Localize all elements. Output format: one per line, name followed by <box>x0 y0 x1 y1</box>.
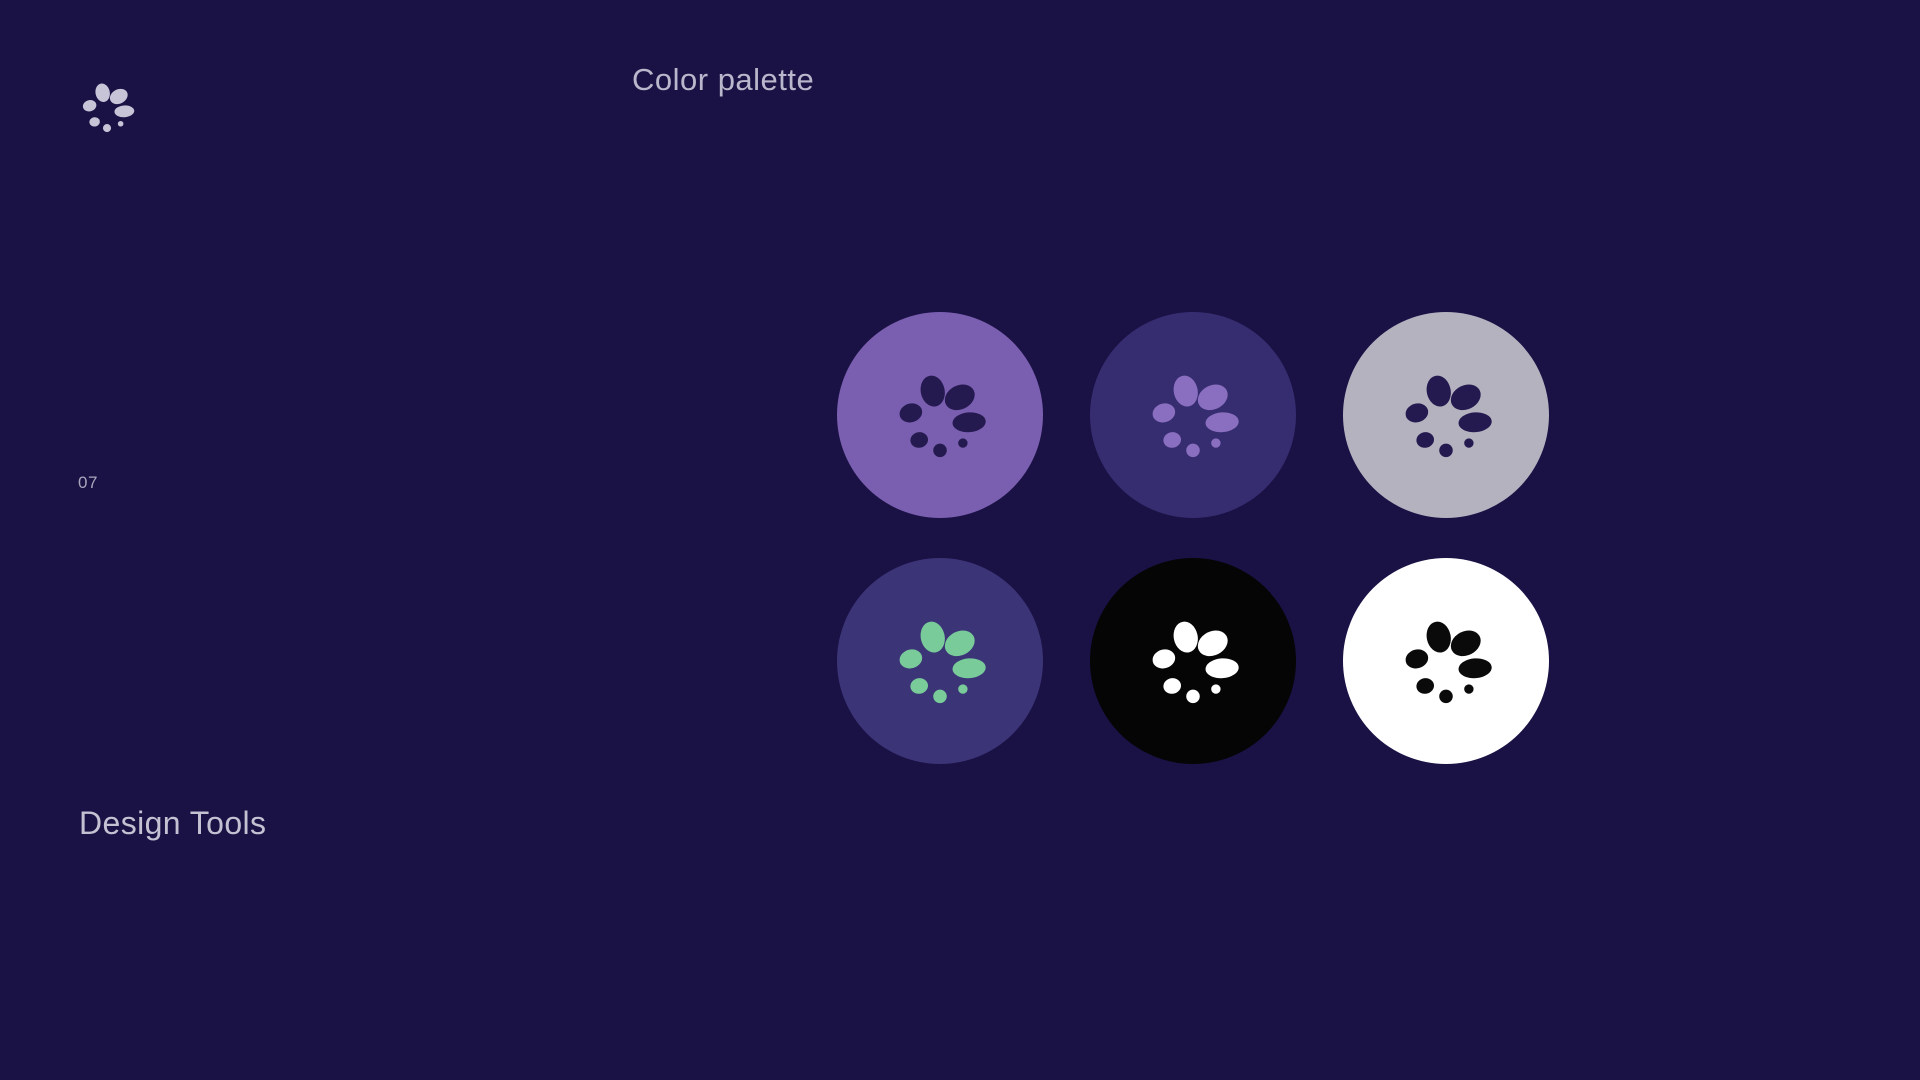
spinner-petal-logo-icon <box>76 76 138 138</box>
color-swatch-black[interactable] <box>1090 558 1296 764</box>
spinner-petal-logo-icon <box>1141 609 1245 713</box>
color-swatch-purple[interactable] <box>837 312 1043 518</box>
page-title: Color palette <box>632 62 814 98</box>
color-palette-grid <box>837 312 1549 764</box>
color-swatch-indigo-green[interactable] <box>837 558 1043 764</box>
color-swatch-indigo[interactable] <box>1090 312 1296 518</box>
color-swatch-white[interactable] <box>1343 558 1549 764</box>
slide-number: 07 <box>78 473 98 493</box>
spinner-petal-logo-icon <box>888 609 992 713</box>
brand-logo <box>76 76 138 138</box>
footer-label: Design Tools <box>79 805 266 842</box>
spinner-petal-logo-icon <box>1141 363 1245 467</box>
spinner-petal-logo-icon <box>1394 609 1498 713</box>
spinner-petal-logo-icon <box>1394 363 1498 467</box>
brand-mark-petals <box>82 82 135 132</box>
color-swatch-grey[interactable] <box>1343 312 1549 518</box>
slide-canvas: Color palette 07 Design Tools <box>0 0 1920 1080</box>
spinner-petal-logo-icon <box>888 363 992 467</box>
